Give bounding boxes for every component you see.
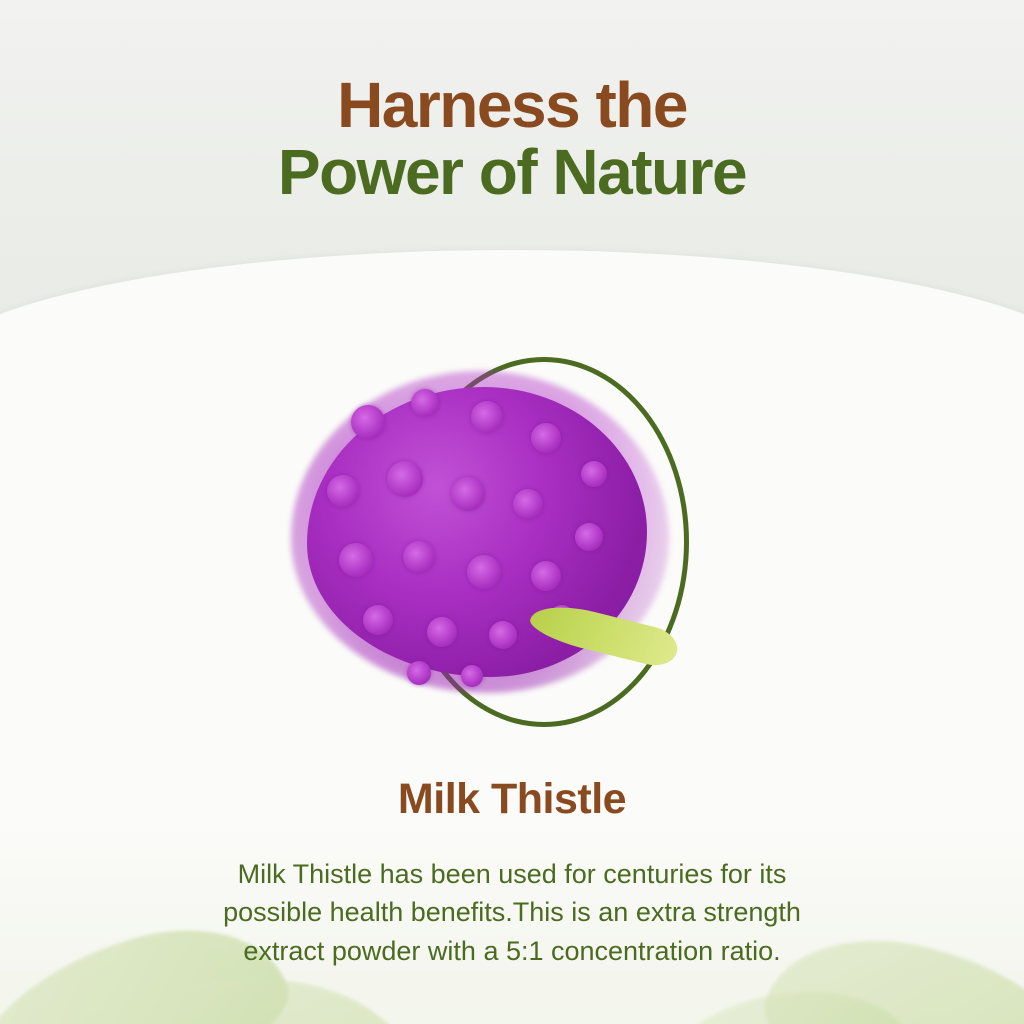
headline-line-2: Power of Nature	[0, 139, 1024, 206]
flower-illustration	[291, 365, 691, 715]
floret	[489, 621, 517, 649]
floret	[461, 665, 483, 687]
floret	[531, 561, 561, 591]
floret	[327, 475, 359, 507]
floret	[427, 617, 457, 647]
floret	[581, 461, 607, 487]
floret	[403, 541, 435, 573]
description-line-3: extract powder with a 5:1 concentration …	[112, 932, 912, 970]
floret	[575, 523, 603, 551]
floret	[531, 423, 561, 453]
floret	[387, 461, 423, 497]
product-ingredient-poster: Harness the Power of Nature	[0, 0, 1024, 1024]
floret	[351, 405, 385, 439]
ingredient-description: Milk Thistle has been used for centuries…	[112, 855, 912, 970]
floret	[363, 605, 393, 635]
ingredient-title: Milk Thistle	[0, 775, 1024, 824]
headline-line-1: Harness the	[0, 72, 1024, 139]
floret	[467, 555, 501, 589]
floret	[407, 661, 431, 685]
ingredient-photo	[291, 347, 711, 747]
floret	[471, 401, 503, 433]
floret	[411, 389, 439, 417]
description-line-1: Milk Thistle has been used for centuries…	[112, 855, 912, 893]
floret	[451, 477, 485, 511]
floret	[339, 543, 373, 577]
floret	[513, 489, 543, 519]
description-line-2: possible health benefits.This is an extr…	[112, 893, 912, 931]
headline: Harness the Power of Nature	[0, 72, 1024, 205]
